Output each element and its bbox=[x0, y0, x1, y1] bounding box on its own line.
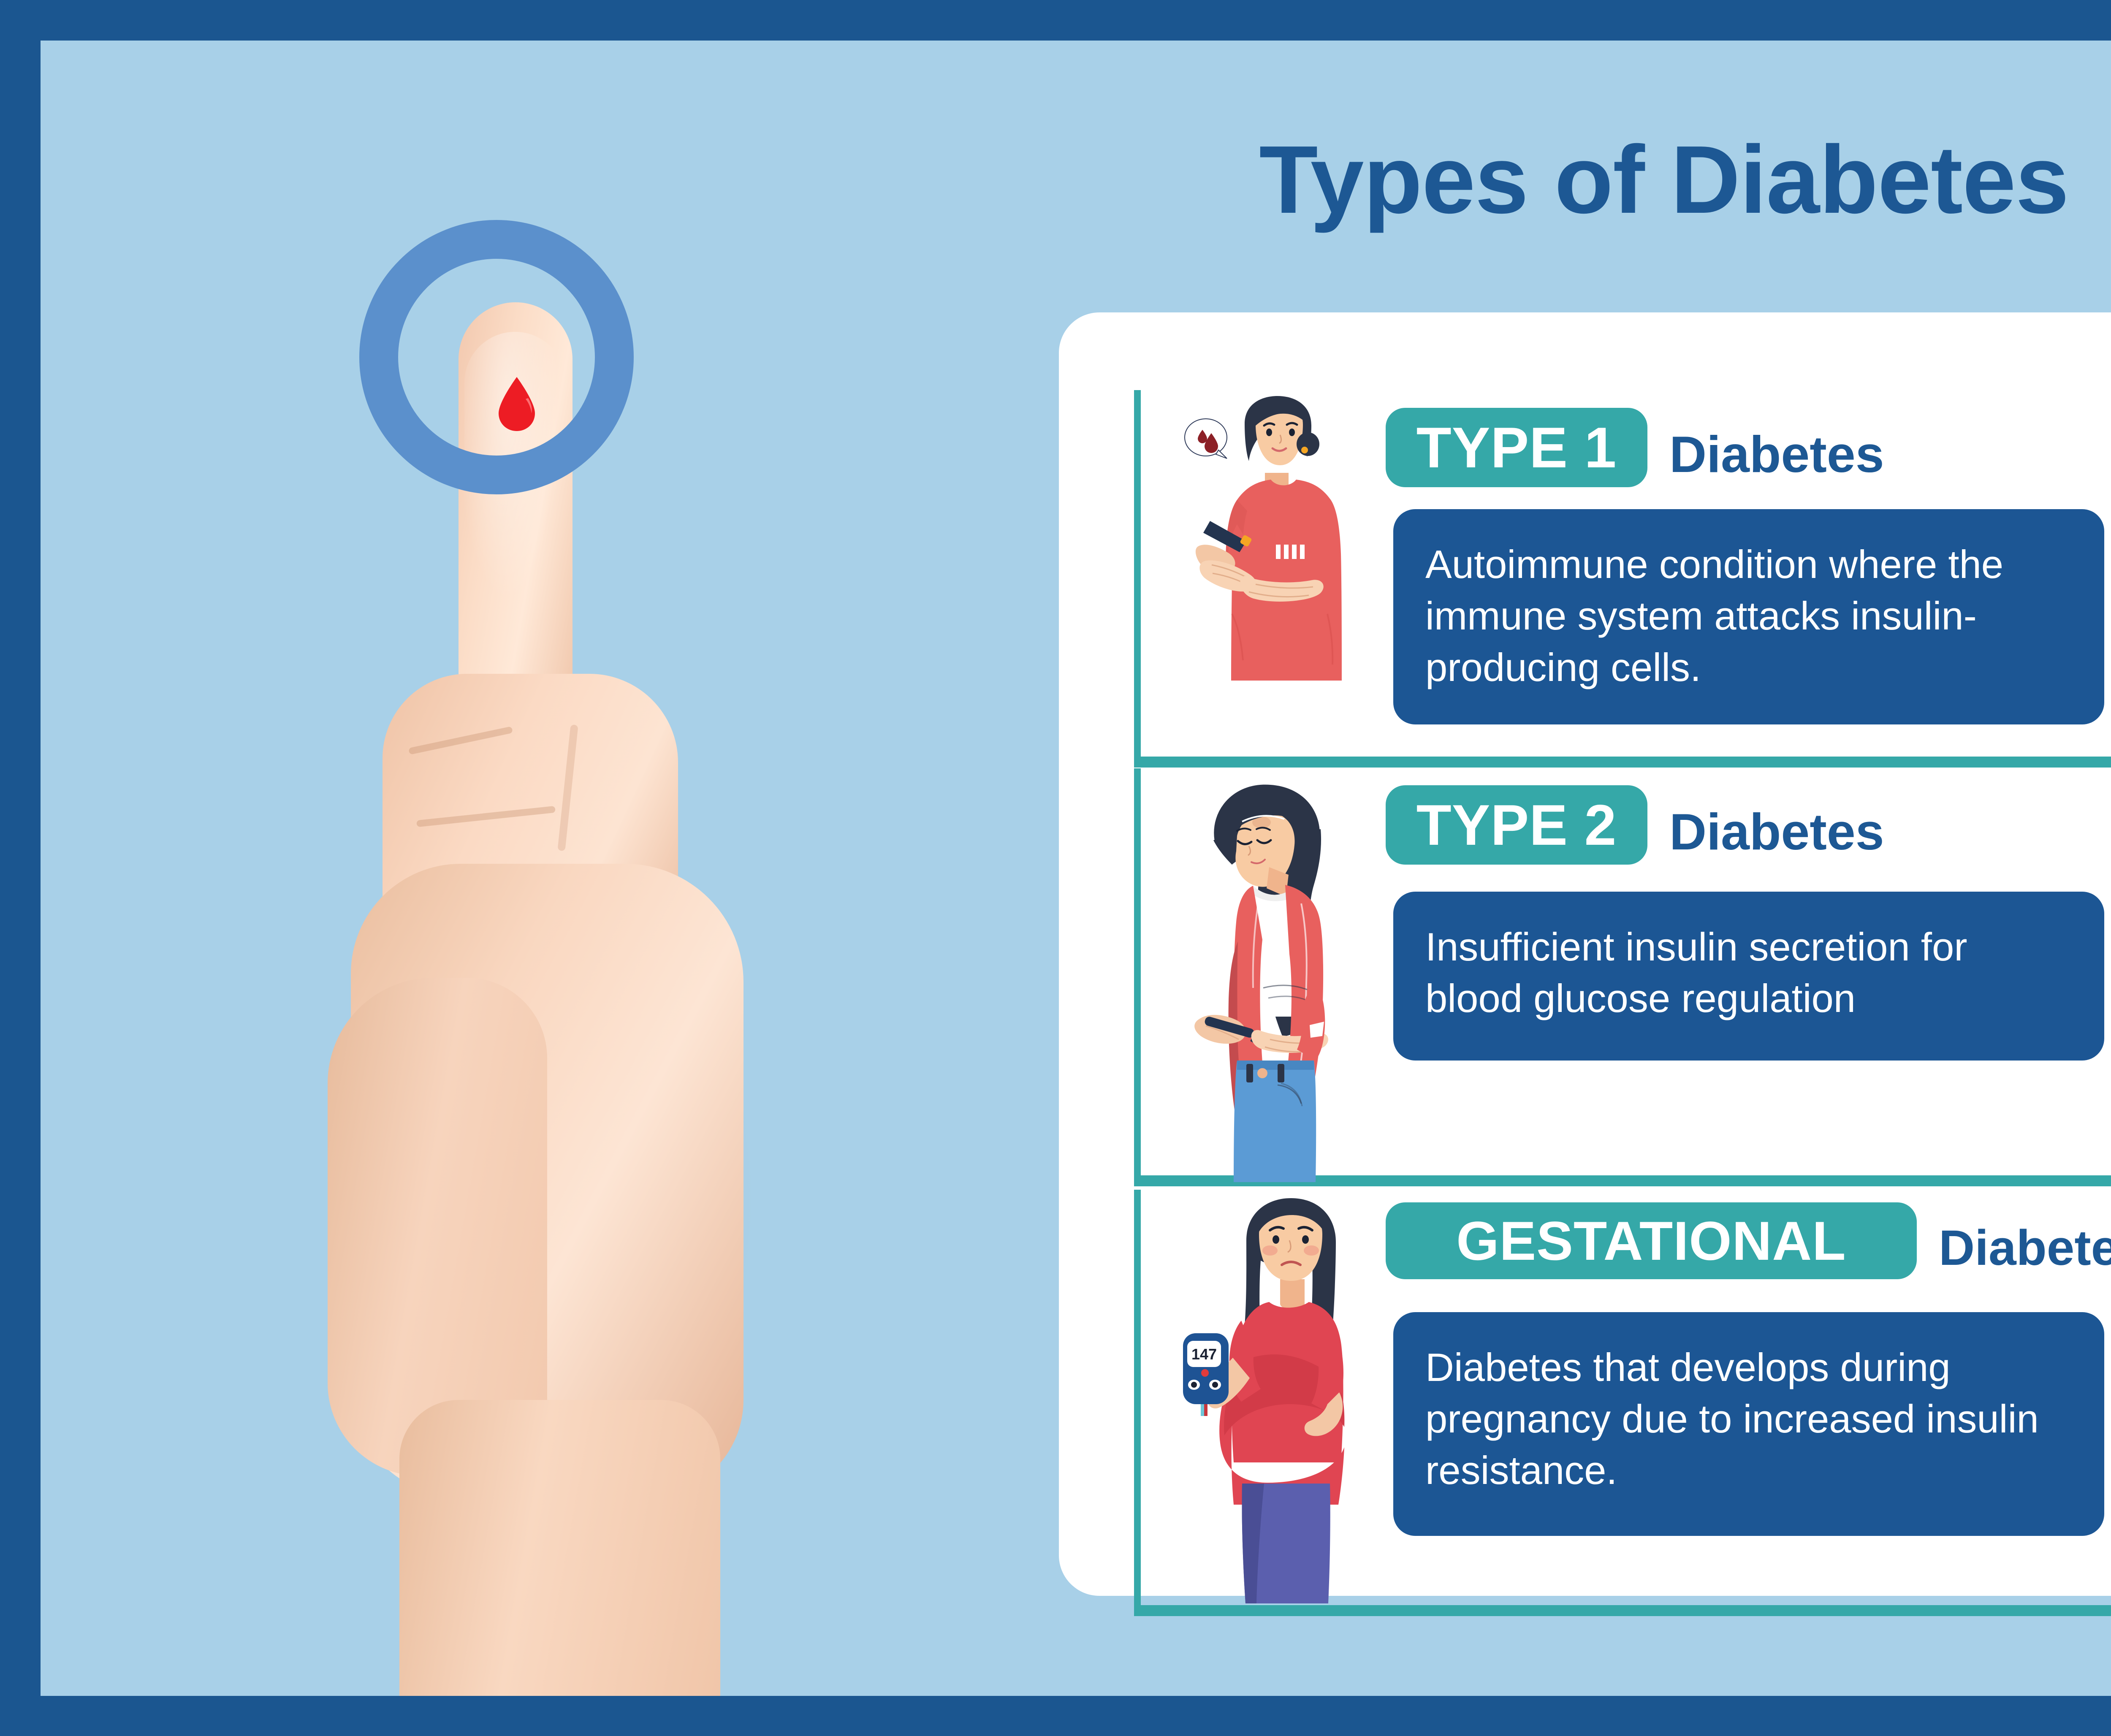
label-diabetes-3: Diabetes bbox=[1939, 1219, 2111, 1277]
description-type-1: Autoimmune condition where the immune sy… bbox=[1393, 509, 2104, 724]
badge-type-1[interactable]: TYPE 1 bbox=[1386, 408, 1647, 487]
wrist bbox=[399, 1400, 720, 1696]
description-gestational: Diabetes that develops during pregnancy … bbox=[1393, 1312, 2104, 1536]
section-left-rule bbox=[1134, 768, 1141, 1186]
svg-text:147: 147 bbox=[1191, 1345, 1217, 1363]
finger-photo bbox=[41, 41, 1020, 1696]
section-gestational: 147 bbox=[1134, 1190, 2111, 1616]
poster-frame: Types of Diabetes bbox=[0, 0, 2111, 1736]
label-diabetes-1: Diabetes bbox=[1669, 425, 1884, 484]
badge-type-2[interactable]: TYPE 2 bbox=[1386, 785, 1647, 865]
label-diabetes-2: Diabetes bbox=[1669, 802, 1884, 861]
blood-thought-bubble bbox=[1185, 419, 1227, 458]
types-card: TYPE 1 Diabetes Autoimmune condition whe… bbox=[1059, 312, 2111, 1596]
hand-illustration bbox=[277, 302, 910, 1696]
section-bottom-rule bbox=[1134, 757, 2111, 768]
section-left-rule bbox=[1134, 1190, 1141, 1616]
section-type-1: TYPE 1 Diabetes Autoimmune condition whe… bbox=[1134, 390, 2111, 765]
badge-gestational[interactable]: GESTATIONAL bbox=[1386, 1202, 1917, 1279]
illustration-pregnant-woman-with-glucometer: 147 bbox=[1179, 1194, 1377, 1608]
poster-canvas: Types of Diabetes bbox=[41, 41, 2111, 1696]
section-type-2: TYPE 2 Diabetes Insufficient insulin sec… bbox=[1134, 768, 2111, 1186]
content-column: Types of Diabetes bbox=[1020, 41, 2111, 1696]
description-type-2: Insufficient insulin secretion for blood… bbox=[1393, 892, 2104, 1061]
page-title: Types of Diabetes bbox=[1020, 125, 2111, 235]
illustration-woman-injecting-insulin bbox=[1175, 777, 1373, 1182]
illustration-woman-with-lancet-pen bbox=[1181, 394, 1380, 757]
section-left-rule bbox=[1134, 390, 1141, 765]
blue-circle-diabetes-symbol bbox=[359, 220, 634, 494]
